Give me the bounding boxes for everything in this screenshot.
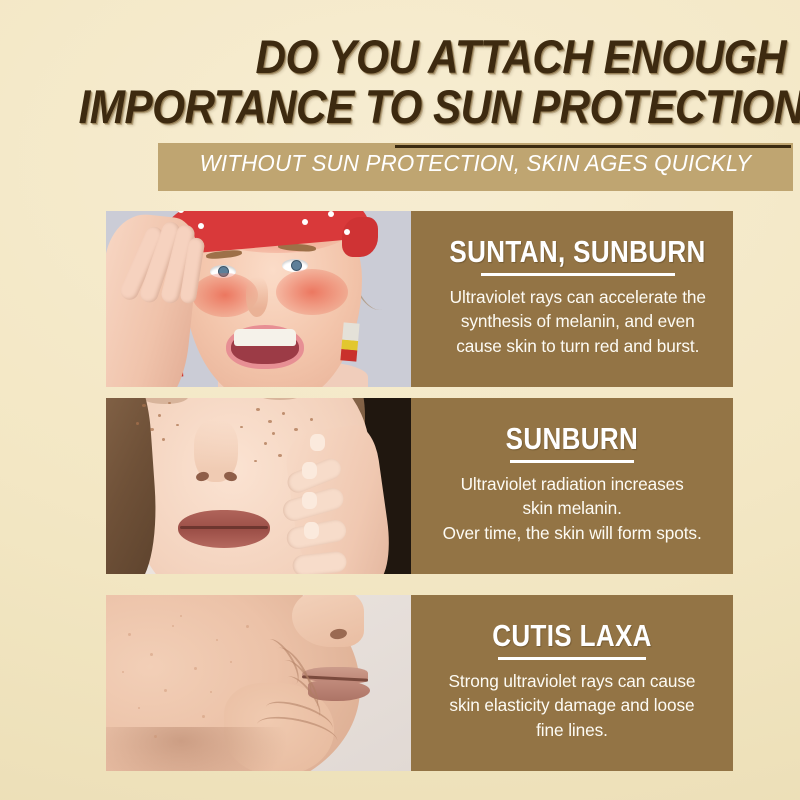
card-heading-2: SUNBURN xyxy=(506,423,639,455)
card-heading-3: CUTIS LAXA xyxy=(492,620,652,652)
card-body-1: SUNTAN, SUNBURN Ultraviolet rays can acc… xyxy=(411,211,733,387)
photo-freckled-face-hand-on-cheek xyxy=(106,398,411,574)
title-line-2: IMPORTANCE TO SUN PROTECTION? xyxy=(79,82,786,132)
title-line-1: DO YOU ATTACH ENOUGH xyxy=(79,32,786,82)
photo-sunburned-woman-red-headband xyxy=(106,211,411,387)
photo-aging-jawline-profile xyxy=(106,595,411,771)
info-card-cutis-laxa: CUTIS LAXA Strong ultraviolet rays can c… xyxy=(106,595,733,771)
page-title: DO YOU ATTACH ENOUGH IMPORTANCE TO SUN P… xyxy=(0,32,800,132)
card-text-2: Ultraviolet radiation increases skin mel… xyxy=(442,472,701,546)
card-text-3: Strong ultraviolet rays can cause skin e… xyxy=(449,669,696,743)
card-body-2: SUNBURN Ultraviolet radiation increases … xyxy=(411,398,733,574)
heading-underline-2 xyxy=(510,460,634,463)
heading-underline-3 xyxy=(498,657,646,660)
card-text-1: Ultraviolet rays can accelerate the synt… xyxy=(449,285,705,359)
subtitle-divider-rule xyxy=(395,145,791,148)
skin-pore-texture xyxy=(106,595,411,771)
info-card-suntan-sunburn: SUNTAN, SUNBURN Ultraviolet rays can acc… xyxy=(106,211,733,387)
info-card-sunburn: SUNBURN Ultraviolet radiation increases … xyxy=(106,398,733,574)
infographic-page: DO YOU ATTACH ENOUGH IMPORTANCE TO SUN P… xyxy=(0,0,800,800)
card-heading-1: SUNTAN, SUNBURN xyxy=(449,236,705,268)
card-body-3: CUTIS LAXA Strong ultraviolet rays can c… xyxy=(411,595,733,771)
subtitle-text: WITHOUT SUN PROTECTION, SKIN AGES QUICKL… xyxy=(168,150,784,177)
heading-underline-1 xyxy=(481,273,675,276)
